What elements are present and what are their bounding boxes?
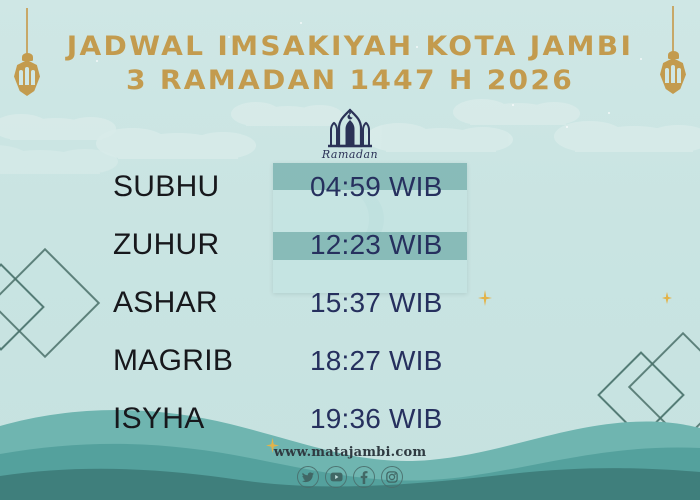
facebook-glyph xyxy=(360,471,368,484)
prayer-time: 15:37 WIB xyxy=(310,287,443,319)
prayer-name: MAGRIB xyxy=(113,344,233,378)
mosque-icon xyxy=(322,108,378,150)
website-url: www.matajambi.com xyxy=(0,445,700,460)
star-speck xyxy=(566,126,568,128)
twitter-icon[interactable] xyxy=(297,466,319,488)
prayer-name: ASHAR xyxy=(113,286,218,320)
star-speck xyxy=(512,104,514,106)
badge-label: Ramadan xyxy=(308,148,392,161)
footer: www.matajambi.com xyxy=(0,445,700,488)
ramadan-badge: Ramadan xyxy=(308,108,392,161)
prayer-time: 19:36 WIB xyxy=(310,403,443,435)
prayer-time: 12:23 WIB xyxy=(310,229,443,261)
prayer-row: ISYHA 19:36 WIB xyxy=(0,390,700,448)
prayer-row: ASHAR 15:37 WIB xyxy=(0,274,700,332)
prayer-name: ZUHUR xyxy=(113,228,220,262)
youtube-icon[interactable] xyxy=(325,466,347,488)
prayer-schedule-list: SUBHU 04:59 WIB ZUHUR 12:23 WIB ASHAR 15… xyxy=(0,158,700,448)
prayer-row: MAGRIB 18:27 WIB xyxy=(0,332,700,390)
title-line-2: 3 RAMADAN 1447 H 2026 xyxy=(0,65,700,97)
prayer-name: ISYHA xyxy=(113,402,205,436)
title-line-1: JADWAL IMSAKIYAH KOTA JAMBI xyxy=(0,32,700,62)
poster-title: JADWAL IMSAKIYAH KOTA JAMBI 3 RAMADAN 14… xyxy=(0,32,700,97)
instagram-glyph xyxy=(386,471,398,483)
prayer-time: 18:27 WIB xyxy=(310,345,443,377)
sparkle-star xyxy=(662,292,672,304)
prayer-row: SUBHU 04:59 WIB xyxy=(0,158,700,216)
youtube-glyph xyxy=(330,472,343,482)
cloud-shape xyxy=(470,103,566,125)
star-speck xyxy=(300,22,302,24)
twitter-glyph xyxy=(302,472,314,483)
sparkle-star xyxy=(266,438,279,453)
star-speck xyxy=(608,112,610,114)
cloud-shape xyxy=(386,128,496,152)
cloud-shape xyxy=(10,118,102,140)
instagram-icon[interactable] xyxy=(381,466,403,488)
facebook-icon[interactable] xyxy=(353,466,375,488)
prayer-row: ZUHUR 12:23 WIB xyxy=(0,216,700,274)
ramadan-schedule-poster: JADWAL IMSAKIYAH KOTA JAMBI 3 RAMADAN 14… xyxy=(0,0,700,500)
social-links xyxy=(0,466,700,488)
cloud-shape xyxy=(575,126,693,152)
sparkle-star xyxy=(478,290,492,306)
prayer-time: 04:59 WIB xyxy=(310,171,443,203)
cloud-shape xyxy=(118,133,238,159)
prayer-name: SUBHU xyxy=(113,170,220,204)
